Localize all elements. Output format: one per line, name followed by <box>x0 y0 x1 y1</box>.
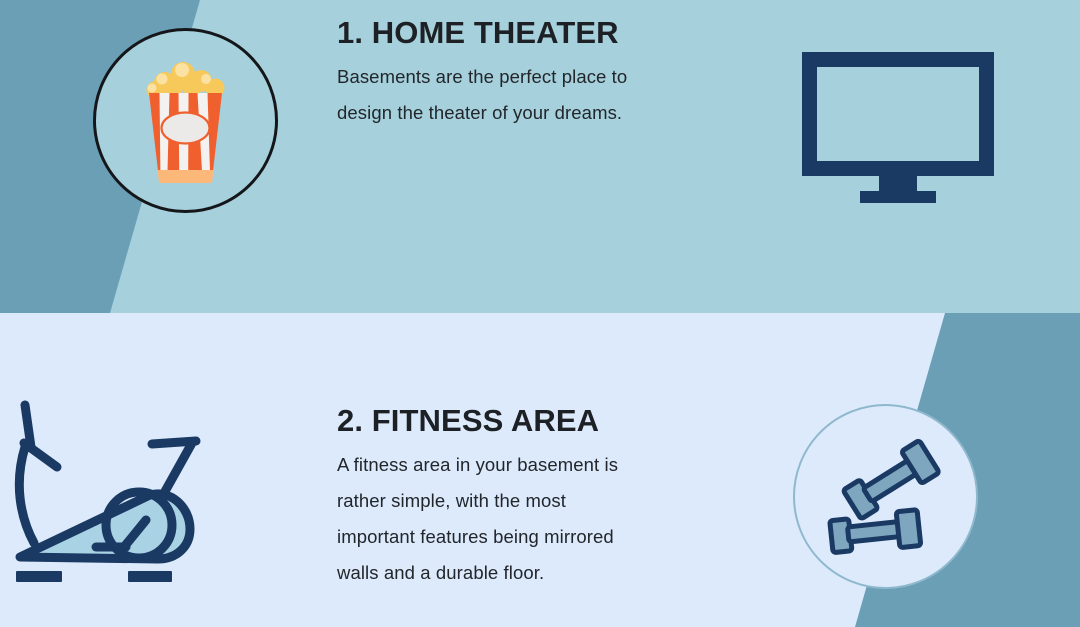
exercise-bike-icon <box>0 395 222 597</box>
copy-line: rather simple, with the most <box>337 483 757 519</box>
page-title-home-theater: 1. HOME THEATER <box>337 17 757 50</box>
television-icon <box>800 50 996 205</box>
page-title-fitness-area: 2. FITNESS AREA <box>337 405 757 438</box>
section-fitness-area: 2. FITNESS AREA A fitness area in your b… <box>0 313 1080 627</box>
section-home-theater: 1. HOME THEATER Basements are the perfec… <box>0 0 1080 313</box>
popcorn-icon <box>138 57 233 185</box>
copy-line: design the theater of your dreams. <box>337 95 757 131</box>
copy-line: walls and a durable floor. <box>337 555 757 591</box>
body-copy-home-theater: Basements are the perfect place to desig… <box>337 59 757 131</box>
body-copy-fitness-area: A fitness area in your basement is rathe… <box>337 447 757 591</box>
text-block-fitness-area: 2. FITNESS AREA A fitness area in your b… <box>337 405 757 591</box>
infographic-canvas: 1. HOME THEATER Basements are the perfec… <box>0 0 1080 627</box>
dumbbells-icon <box>811 422 961 572</box>
badge-popcorn <box>93 28 278 213</box>
copy-line: A fitness area in your basement is <box>337 447 757 483</box>
copy-line: important features being mirrored <box>337 519 757 555</box>
badge-dumbbells <box>793 404 978 589</box>
text-block-home-theater: 1. HOME THEATER Basements are the perfec… <box>337 17 757 131</box>
copy-line: Basements are the perfect place to <box>337 59 757 95</box>
